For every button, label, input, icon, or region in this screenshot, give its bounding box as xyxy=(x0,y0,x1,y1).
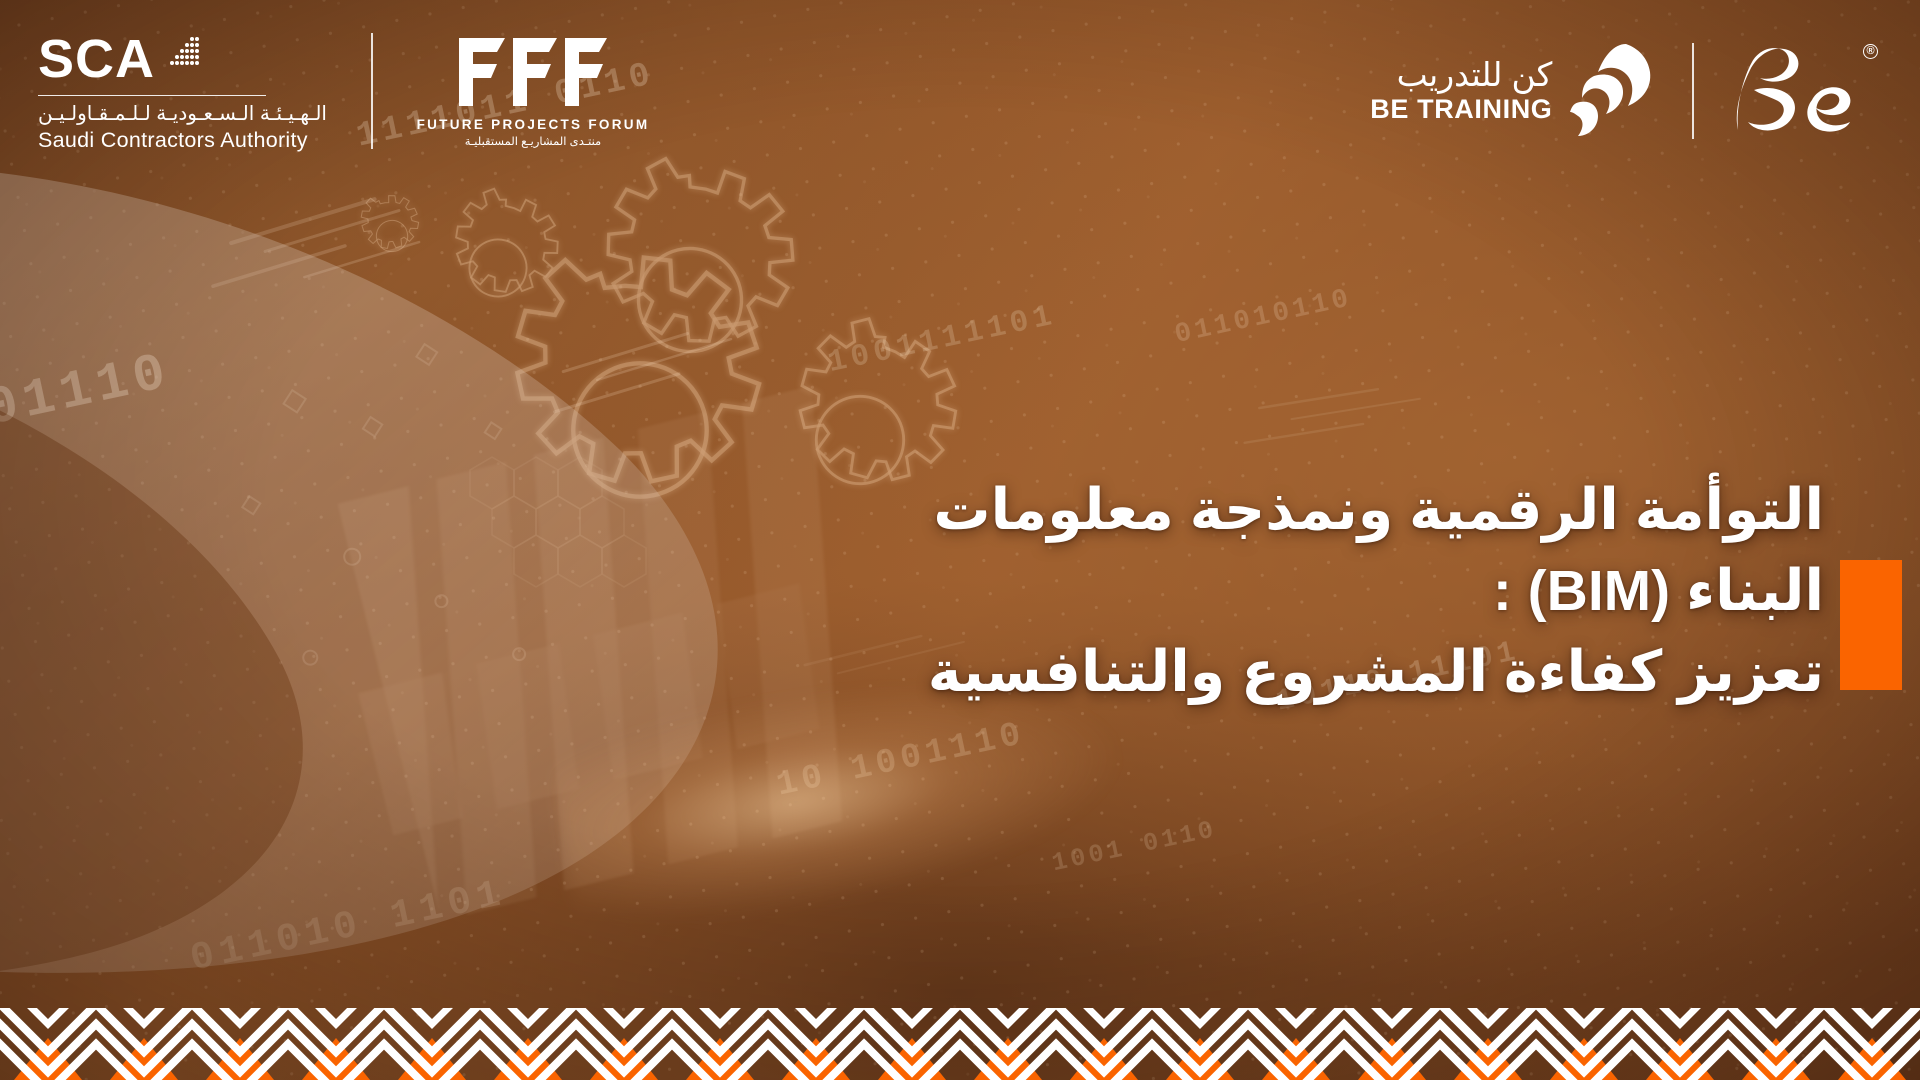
page-title: التوأمة الرقمية ونمذجة معلومات البناء (B… xyxy=(928,470,1824,713)
sca-arabic-name: الـهـيـئـة الـسـعـوديـة لـلـمـقـاولـيـن xyxy=(38,103,327,126)
be-training-arabic-name: كن للتدريب xyxy=(1397,57,1553,94)
be-wordmark-icon xyxy=(1732,46,1874,136)
headline-line-3: تعزيز كفاءة المشروع والتنافسية xyxy=(928,632,1824,713)
accent-bar xyxy=(1840,560,1902,690)
be-training-english-name: BE TRAINING xyxy=(1370,95,1552,125)
be-training-logo: كن للتدريب BE TRAINING xyxy=(1370,42,1654,140)
event-banner: 01101101110 1111011 0110 1001111101 0110… xyxy=(0,0,1920,1080)
sca-dot-matrix-icon xyxy=(159,36,201,72)
sca-english-name: Saudi Contractors Authority xyxy=(38,128,308,154)
fpf-arabic-name: منتـدى المشاريـع المستقبليـة xyxy=(465,136,601,150)
fpf-logo: FUTURE PROJECTS FORUM منتـدى المشاريـع ا… xyxy=(417,32,650,150)
right-logo-group: كن للتدريب BE TRAINING xyxy=(1370,42,1874,140)
fpf-english-name: FUTURE PROJECTS FORUM xyxy=(417,117,650,133)
logo-divider xyxy=(1692,43,1694,139)
logo-bar: SCA الـهـيـئـة الـسـعـوديـة لـلـمـقـاولـ… xyxy=(0,0,1920,182)
sca-acronym: SCA xyxy=(38,34,155,86)
sca-divider-rule xyxy=(38,95,266,97)
sadu-chevron-band xyxy=(0,1008,1920,1080)
fpf-monogram-icon xyxy=(457,36,609,108)
sca-logo: SCA الـهـيـئـة الـسـعـوديـة لـلـمـقـاولـ… xyxy=(38,28,327,154)
headline-line-1: التوأمة الرقمية ونمذجة معلومات xyxy=(928,470,1824,551)
headline-block: التوأمة الرقمية ونمذجة معلومات البناء (B… xyxy=(724,470,1824,713)
registered-trademark-icon: ® xyxy=(1863,44,1878,59)
left-logo-group: SCA الـهـيـئـة الـسـعـوديـة لـلـمـقـاولـ… xyxy=(38,28,649,154)
be-training-mark-icon xyxy=(1568,42,1654,140)
be-logo: ® xyxy=(1732,46,1874,136)
sca-wordmark-row: SCA xyxy=(38,34,201,86)
be-training-text: كن للتدريب BE TRAINING xyxy=(1370,57,1552,125)
headline-line-2: البناء (BIM) : xyxy=(928,551,1824,632)
logo-divider xyxy=(371,33,373,149)
